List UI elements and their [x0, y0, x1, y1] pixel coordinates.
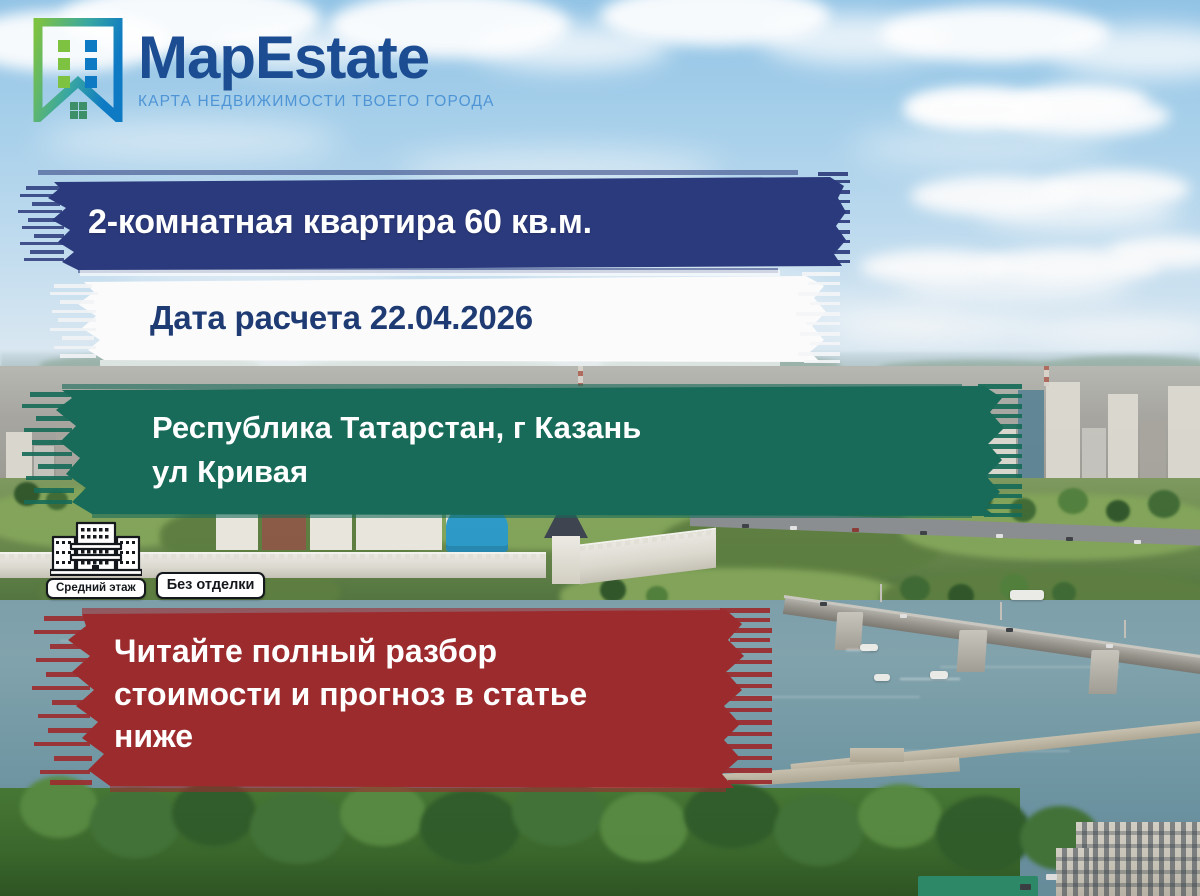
date-banner: Дата расчета 22.04.2026 — [50, 270, 840, 366]
apartment-banner-text: 2-комнатная квартира 60 кв.м. — [18, 203, 592, 242]
address-line-1: Республика Татарстан, г Казань — [152, 406, 641, 450]
badge-floor[interactable]: Средний этаж — [46, 520, 146, 599]
apartment-banner: 2-комнатная квартира 60 кв.м. — [18, 168, 850, 276]
pier-platform — [850, 748, 904, 762]
brand-tagline: КАРТА НЕДВИЖИМОСТИ ТВОЕГО ГОРОДА — [138, 93, 495, 111]
boat — [874, 674, 890, 681]
cta-line-3: ниже — [114, 715, 587, 758]
cta-banner-text: Читайте полный разбор стоимости и прогно… — [26, 608, 587, 758]
date-banner-text: Дата расчета 22.04.2026 — [50, 299, 533, 337]
address-line-2: ул Кривая — [152, 450, 641, 494]
cta-line-2: стоимости и прогноз в статье — [114, 673, 587, 716]
badge-finish[interactable]: Без отделки — [156, 570, 266, 599]
brand-text: MapEstate КАРТА НЕДВИЖИМОСТИ ТВОЕГО ГОРО… — [138, 29, 495, 111]
address-banner-text: Республика Татарстан, г Казань ул Кривая — [22, 384, 641, 494]
bookmark-building-icon — [32, 18, 124, 122]
property-badges: Средний этаж Без отделки — [46, 520, 265, 599]
brand-logo[interactable]: MapEstate КАРТА НЕДВИЖИМОСТИ ТВОЕГО ГОРО… — [32, 18, 495, 122]
promo-poster: MapEstate КАРТА НЕДВИЖИМОСТИ ТВОЕГО ГОРО… — [0, 0, 1200, 896]
kremlin-tower — [552, 536, 580, 584]
address-banner: Республика Татарстан, г Казань ул Кривая — [22, 384, 1022, 518]
apartment-building-icon — [50, 520, 142, 576]
cta-banner[interactable]: Читайте полный разбор стоимости и прогно… — [26, 608, 784, 792]
brand-name: MapEstate — [138, 29, 495, 86]
apartment-block-2 — [1056, 848, 1092, 896]
apartment-block — [1076, 822, 1200, 896]
badge-finish-label: Без отделки — [156, 572, 266, 599]
badge-floor-label: Средний этаж — [46, 578, 146, 599]
boat — [1010, 590, 1044, 600]
cta-line-1: Читайте полный разбор — [114, 630, 587, 673]
